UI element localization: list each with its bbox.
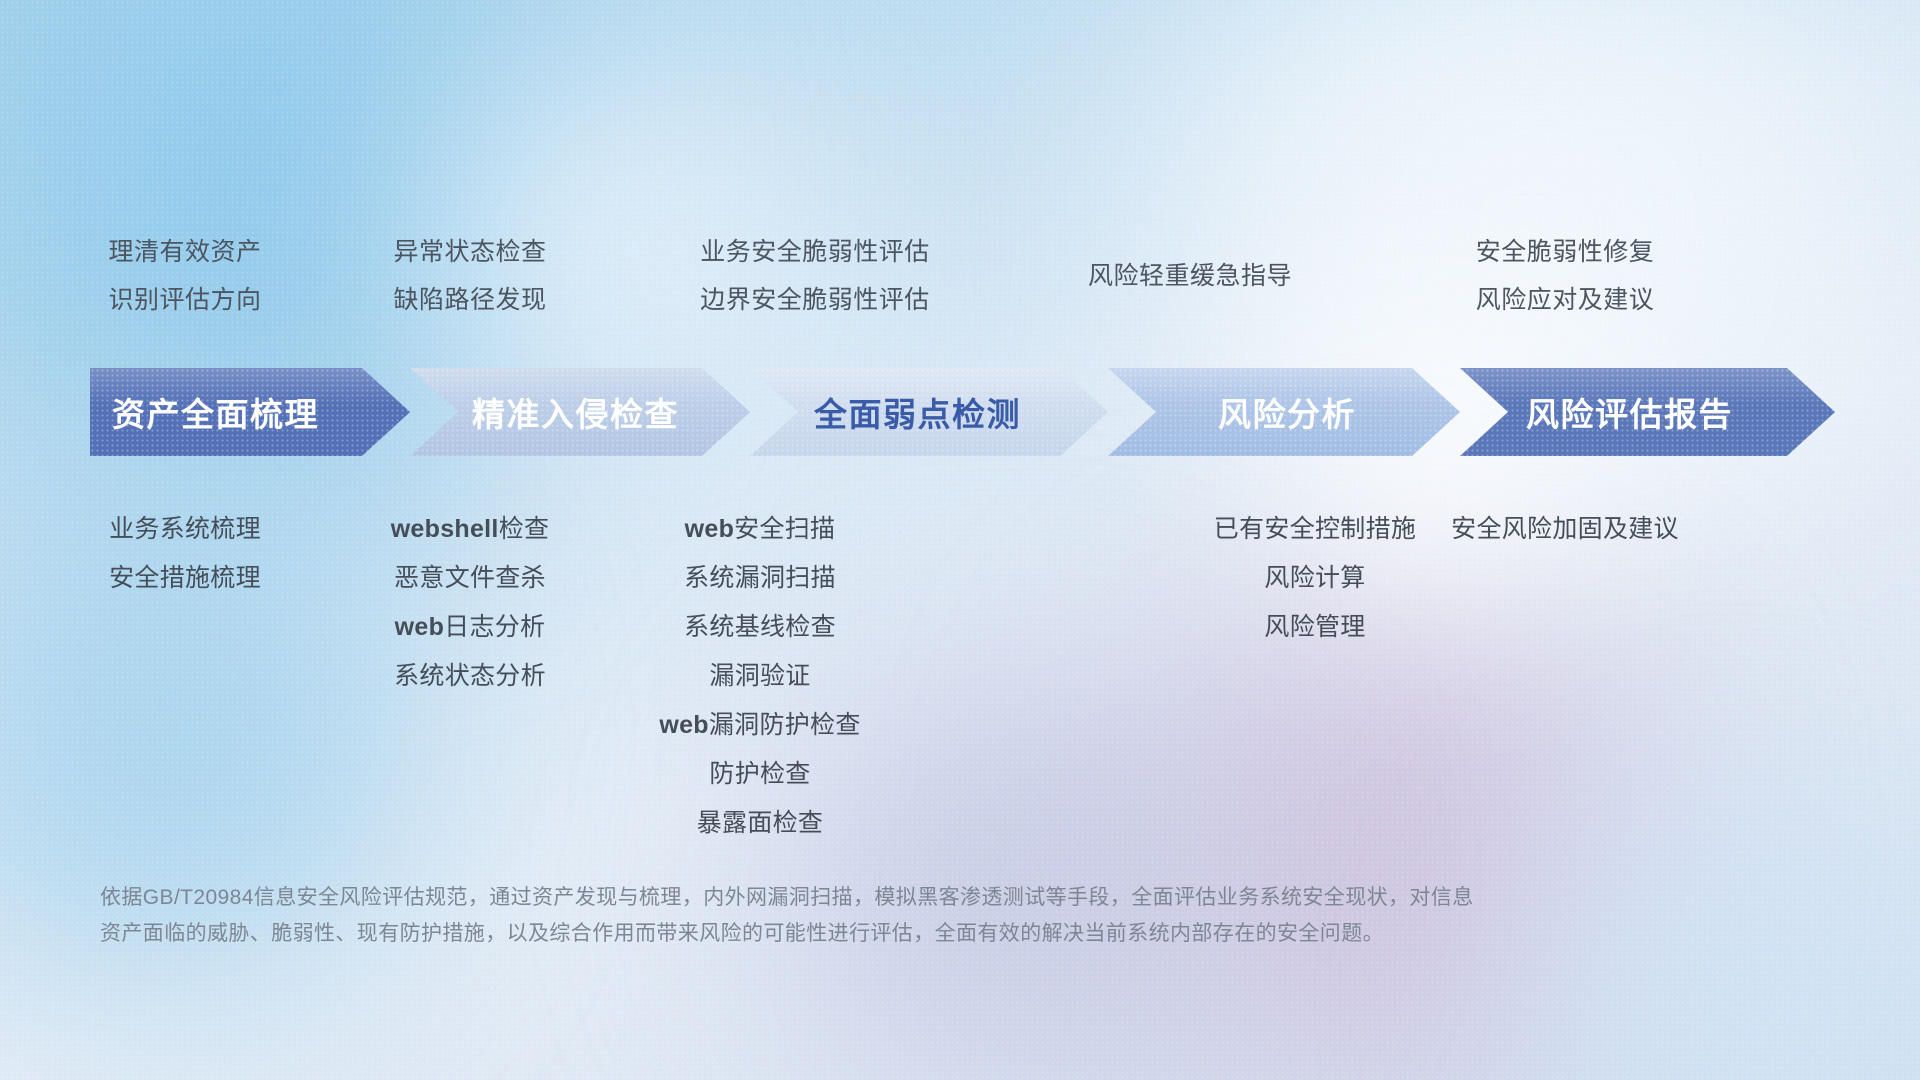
- stage-chevron-risk-report[interactable]: 风险评估报告: [1460, 368, 1835, 456]
- process-diagram: 理清有效资产 识别评估方向 异常状态检查 缺陷路径发现 业务安全脆弱性评估 边界…: [0, 0, 1920, 1080]
- top-caption: 业务安全脆弱性评估: [690, 228, 940, 276]
- list-item: 防护检查: [635, 750, 885, 799]
- stage-top-captions-weakness-detection: 业务安全脆弱性评估 边界安全脆弱性评估: [690, 228, 940, 324]
- process-stage-band: 资产全面梳理 精准入侵检查 全面弱点检测 风险分析 风险评估报告: [0, 368, 1920, 456]
- top-caption: 边界安全脆弱性评估: [690, 276, 940, 324]
- stage-label: 风险分析: [1218, 388, 1356, 436]
- top-caption: 风险轻重缓急指导: [1065, 252, 1315, 300]
- stage-label: 全面弱点检测: [814, 388, 1021, 436]
- list-item: 系统基线检查: [635, 603, 885, 652]
- top-caption: 理清有效资产: [60, 228, 310, 276]
- footer-line: 依据GB/T20984信息安全风险评估规范，通过资产发现与梳理，内外网漏洞扫描，…: [100, 880, 1600, 916]
- stage-bottom-list-risk-analysis: 已有安全控制措施 风险计算 风险管理: [1190, 505, 1440, 652]
- list-item: 恶意文件查杀: [345, 554, 595, 603]
- stage-top-captions-risk-analysis: 风险轻重缓急指导: [1065, 252, 1315, 300]
- list-item: 风险管理: [1190, 603, 1440, 652]
- list-item: 业务系统梳理: [60, 505, 310, 554]
- stage-label: 精准入侵检查: [472, 388, 679, 436]
- stage-bottom-list-weakness-detection: web安全扫描 系统漏洞扫描 系统基线检查 漏洞验证 web漏洞防护检查 防护检…: [635, 505, 885, 848]
- list-item: 系统漏洞扫描: [635, 554, 885, 603]
- list-item: 安全风险加固及建议: [1440, 505, 1690, 554]
- list-item: 漏洞验证: [635, 652, 885, 701]
- stage-bottom-list-risk-report: 安全风险加固及建议: [1440, 505, 1690, 554]
- top-caption: 风险应对及建议: [1440, 276, 1690, 324]
- list-item: 风险计算: [1190, 554, 1440, 603]
- list-item: 系统状态分析: [345, 652, 595, 701]
- stage-chevron-weakness-detection[interactable]: 全面弱点检测: [750, 368, 1108, 456]
- list-item: 已有安全控制措施: [1190, 505, 1440, 554]
- list-item: web安全扫描: [635, 505, 885, 554]
- stage-top-captions-intrusion-check: 异常状态检查 缺陷路径发现: [345, 228, 595, 324]
- list-item: web漏洞防护检查: [635, 701, 885, 750]
- list-item: 安全措施梳理: [60, 554, 310, 603]
- top-caption: 缺陷路径发现: [345, 276, 595, 324]
- stage-bottom-list-intrusion-check: webshell检查 恶意文件查杀 web日志分析 系统状态分析: [345, 505, 595, 701]
- stage-chevron-intrusion-check[interactable]: 精准入侵检查: [410, 368, 750, 456]
- stage-top-captions-risk-report: 安全脆弱性修复 风险应对及建议: [1440, 228, 1690, 324]
- stage-label: 资产全面梳理: [112, 388, 319, 436]
- footer-description: 依据GB/T20984信息安全风险评估规范，通过资产发现与梳理，内外网漏洞扫描，…: [100, 880, 1600, 952]
- stage-chevron-asset-inventory[interactable]: 资产全面梳理: [90, 368, 410, 456]
- stage-top-captions-asset-inventory: 理清有效资产 识别评估方向: [60, 228, 310, 324]
- top-caption: 安全脆弱性修复: [1440, 228, 1690, 276]
- list-item: 暴露面检查: [635, 799, 885, 848]
- stage-bottom-list-asset-inventory: 业务系统梳理 安全措施梳理: [60, 505, 310, 603]
- top-caption: 异常状态检查: [345, 228, 595, 276]
- footer-line: 资产面临的威胁、脆弱性、现有防护措施，以及综合作用而带来风险的可能性进行评估，全…: [100, 916, 1600, 952]
- top-caption: 识别评估方向: [60, 276, 310, 324]
- list-item: webshell检查: [345, 505, 595, 554]
- stage-label: 风险评估报告: [1526, 388, 1733, 436]
- stage-chevron-risk-analysis[interactable]: 风险分析: [1108, 368, 1460, 456]
- list-item: web日志分析: [345, 603, 595, 652]
